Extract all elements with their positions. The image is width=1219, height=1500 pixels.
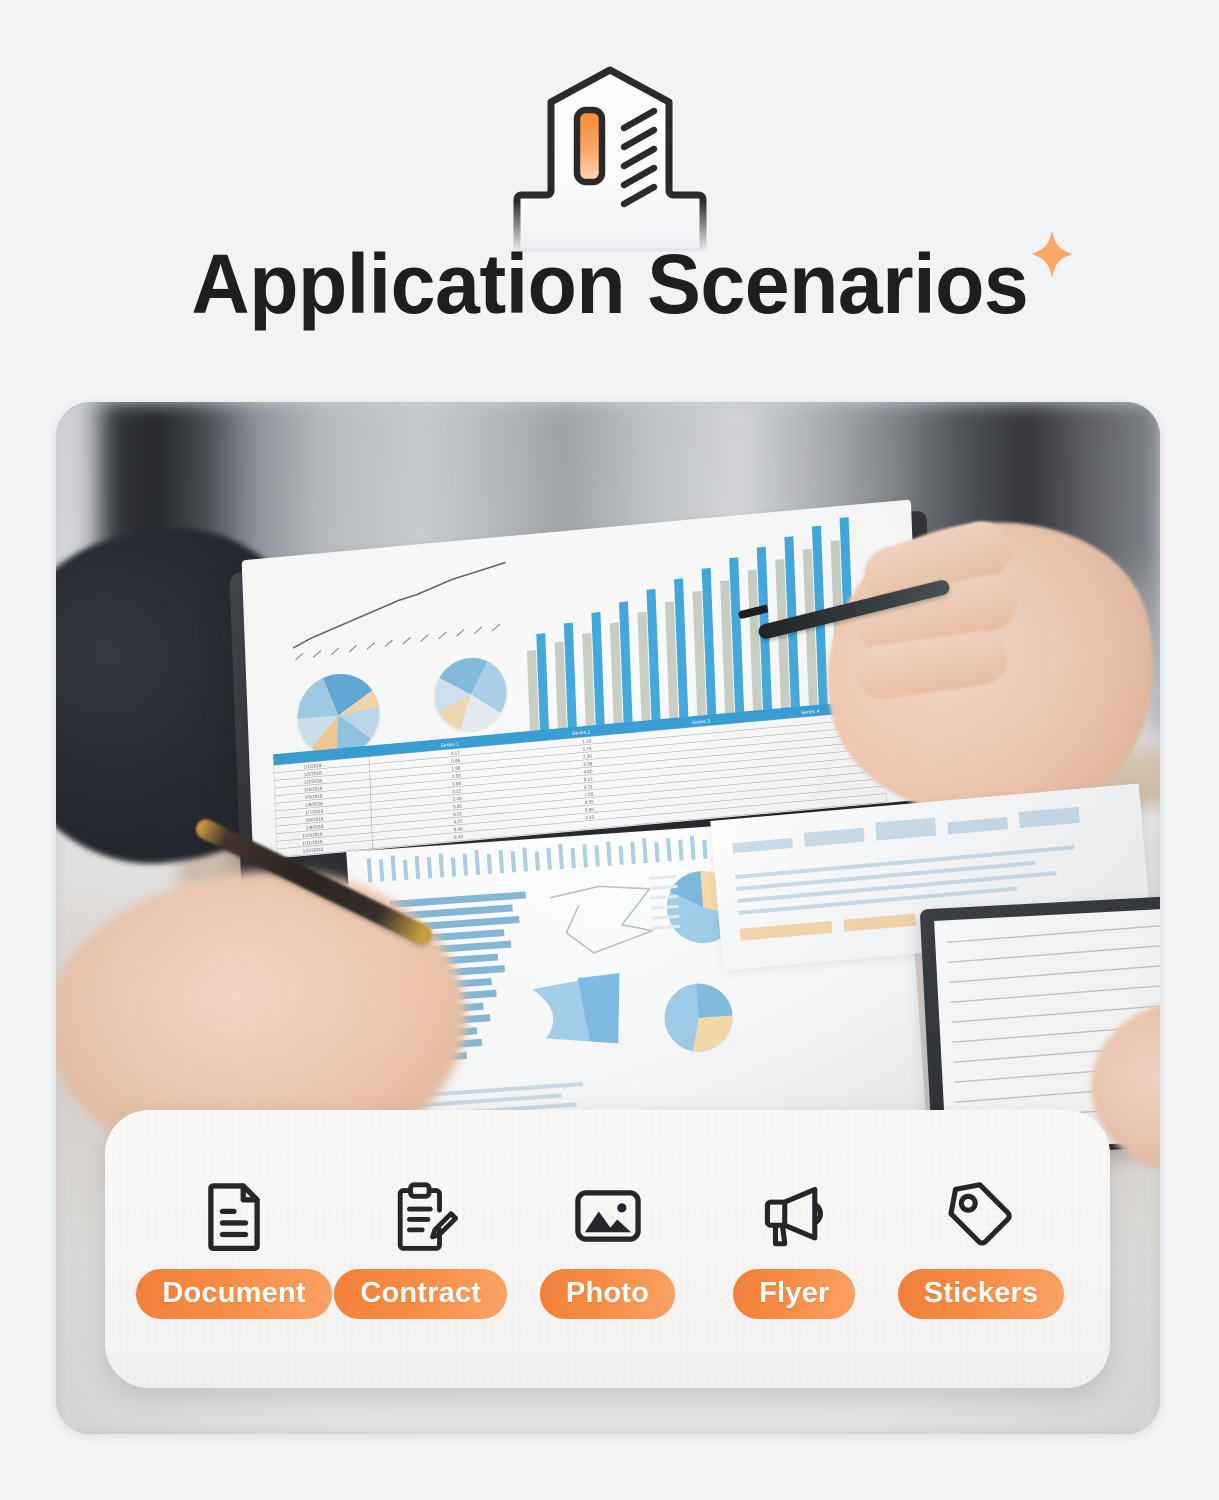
clipboard-pencil-icon: [384, 1179, 458, 1253]
svg-text:1.74: 1.74: [583, 746, 593, 752]
svg-text:1.98: 1.98: [451, 766, 461, 772]
scenario-item-stickers[interactable]: Stickers: [890, 1179, 1072, 1319]
scenario-label-flyer: Flyer: [733, 1269, 855, 1319]
svg-text:4.60: 4.60: [583, 769, 593, 775]
svg-text:5.17: 5.17: [584, 776, 594, 782]
page-title: Application Scenarios: [191, 236, 1028, 332]
svg-text:3.85: 3.85: [453, 804, 463, 810]
photo-image-icon: [571, 1179, 645, 1253]
svg-text:5.46: 5.46: [454, 826, 464, 832]
scenario-item-document[interactable]: Document: [143, 1179, 325, 1319]
svg-text:3.49: 3.49: [453, 796, 463, 802]
scenario-label-document: Document: [136, 1269, 331, 1319]
scenario-item-photo[interactable]: Photo: [517, 1179, 699, 1319]
scenario-label-stickers: Stickers: [898, 1269, 1064, 1319]
price-tag-icon: [944, 1179, 1018, 1253]
page-header: Application Scenarios: [0, 0, 1219, 390]
scenario-label-photo: Photo: [540, 1269, 675, 1319]
scenario-pill-row: Document Contract: [105, 1110, 1110, 1388]
megaphone-icon: [757, 1179, 831, 1253]
svg-text:1.10: 1.10: [582, 738, 592, 744]
svg-text:1/12/2018: 1/12/2018: [303, 847, 324, 854]
sparkle-star-icon: [1028, 228, 1076, 280]
svg-text:6.21: 6.21: [584, 784, 594, 790]
skyscraper-building-icon: [502, 62, 718, 252]
svg-text:3.89: 3.89: [452, 781, 462, 787]
report-pie-chart-2: [433, 655, 507, 734]
svg-text:3.38: 3.38: [583, 761, 593, 767]
svg-text:7.55: 7.55: [584, 792, 594, 798]
report-paper: Series 1 Series 2 Series 3 Series 4: [242, 499, 923, 860]
scenario-item-contract[interactable]: Contract: [330, 1179, 512, 1319]
svg-text:8.45: 8.45: [454, 834, 464, 840]
svg-text:2.43: 2.43: [585, 814, 595, 820]
report-line-chart: [284, 554, 536, 663]
feature-card: Document Contract: [105, 1110, 1110, 1388]
svg-text:3.12: 3.12: [452, 788, 462, 794]
svg-text:2.58: 2.58: [452, 773, 462, 779]
scenario-label-contract: Contract: [334, 1269, 507, 1319]
svg-text:0.17: 0.17: [451, 750, 461, 756]
document-file-icon: [197, 1179, 271, 1253]
svg-text:8.55: 8.55: [585, 799, 595, 805]
svg-text:6.01: 6.01: [453, 811, 463, 817]
svg-text:2.30: 2.30: [583, 754, 593, 760]
svg-text:0.95: 0.95: [451, 758, 461, 764]
svg-text:9.90: 9.90: [585, 807, 595, 813]
scenario-item-flyer[interactable]: Flyer: [703, 1179, 885, 1319]
svg-text:4.37: 4.37: [453, 819, 463, 825]
